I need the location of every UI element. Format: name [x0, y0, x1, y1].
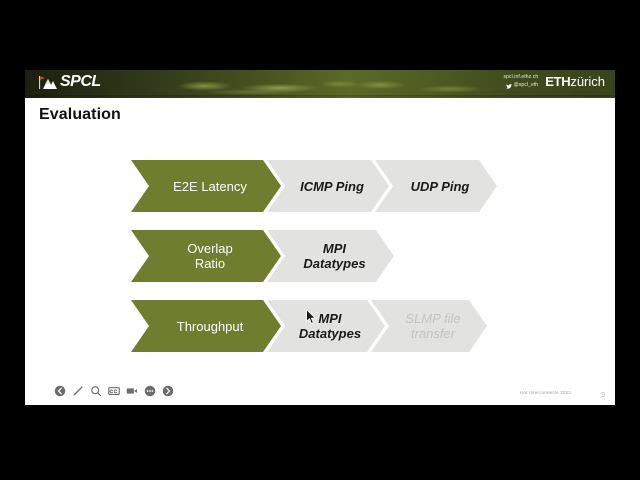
twitter-bird-icon — [506, 81, 512, 89]
eth-zurich-logo: ETHzürich — [545, 75, 605, 89]
chevron-metric-throughput[interactable]: Throughput — [131, 300, 281, 352]
chevron-item-mpi-datatypes[interactable]: MPI Datatypes — [267, 300, 385, 352]
mouse-pointer-icon — [306, 309, 317, 325]
chevron-metric-e2e-latency[interactable]: E2E Latency — [131, 160, 281, 212]
slide-canvas: SPCL spcl.inf.ethz.ch @spcl_eth ETHzüric… — [25, 70, 615, 405]
chevron-label: E2E Latency — [159, 179, 253, 194]
twitter-handle: @spcl_eth — [514, 82, 539, 89]
eth-logo-light: zürich — [570, 74, 605, 89]
spcl-logo: SPCL — [36, 74, 101, 90]
chevron-item-mpi-datatypes[interactable]: MPI Datatypes — [267, 230, 394, 282]
eth-logo-bold: ETH — [545, 74, 570, 89]
video-camera-icon[interactable] — [126, 385, 138, 397]
header-texture-left — [175, 70, 375, 98]
header-right-group: spcl.inf.ethz.ch @spcl_eth ETHzürich — [504, 74, 605, 89]
evaluation-row-throughput: Throughput MPI Datatypes SLMP file trans… — [131, 300, 487, 352]
slide-page-number: 9 — [601, 392, 605, 399]
spcl-contact-links: spcl.inf.ethz.ch @spcl_eth — [504, 74, 539, 89]
slide-header-band: SPCL spcl.inf.ethz.ch @spcl_eth ETHzüric… — [25, 70, 615, 98]
chevron-label: MPI Datatypes — [289, 241, 371, 271]
evaluation-row-overlap-ratio: Overlap Ratio MPI Datatypes — [131, 230, 394, 282]
slide-footer-note: Hot Interconnects 2023 — [520, 390, 571, 395]
chevron-item-slmp-file-transfer[interactable]: SLMP file transfer — [371, 300, 487, 352]
chevron-label: SLMP file transfer — [391, 311, 466, 341]
captions-icon[interactable] — [108, 385, 120, 397]
chevron-item-icmp-ping[interactable]: ICMP Ping — [267, 160, 389, 212]
chevron-label: Overlap Ratio — [173, 241, 239, 271]
pen-icon[interactable] — [72, 385, 84, 397]
header-shadow — [25, 95, 615, 98]
chevron-item-udp-ping[interactable]: UDP Ping — [375, 160, 497, 212]
magnifier-icon[interactable] — [90, 385, 102, 397]
spcl-logo-text: SPCL — [60, 74, 101, 90]
header-texture-right — [355, 70, 505, 98]
evaluation-row-e2e-latency: E2E Latency ICMP Ping UDP Ping — [131, 160, 497, 212]
chevron-label: MPI Datatypes — [285, 311, 367, 341]
arrow-left-circle-icon[interactable] — [54, 385, 66, 397]
spcl-website-link[interactable]: spcl.inf.ethz.ch — [504, 74, 539, 81]
twitter-line[interactable]: @spcl_eth — [504, 81, 539, 89]
presentation-toolbar — [54, 383, 174, 399]
chevron-label: Throughput — [163, 319, 250, 334]
ellipsis-circle-icon[interactable] — [144, 385, 156, 397]
mountain-flag-icon — [36, 75, 58, 90]
chevron-label: ICMP Ping — [286, 179, 370, 194]
screen: SPCL spcl.inf.ethz.ch @spcl_eth ETHzüric… — [0, 0, 640, 480]
chevron-metric-overlap-ratio[interactable]: Overlap Ratio — [131, 230, 281, 282]
chevron-label: UDP Ping — [397, 179, 476, 194]
arrow-right-circle-icon[interactable] — [162, 385, 174, 397]
page-title: Evaluation — [39, 106, 121, 124]
